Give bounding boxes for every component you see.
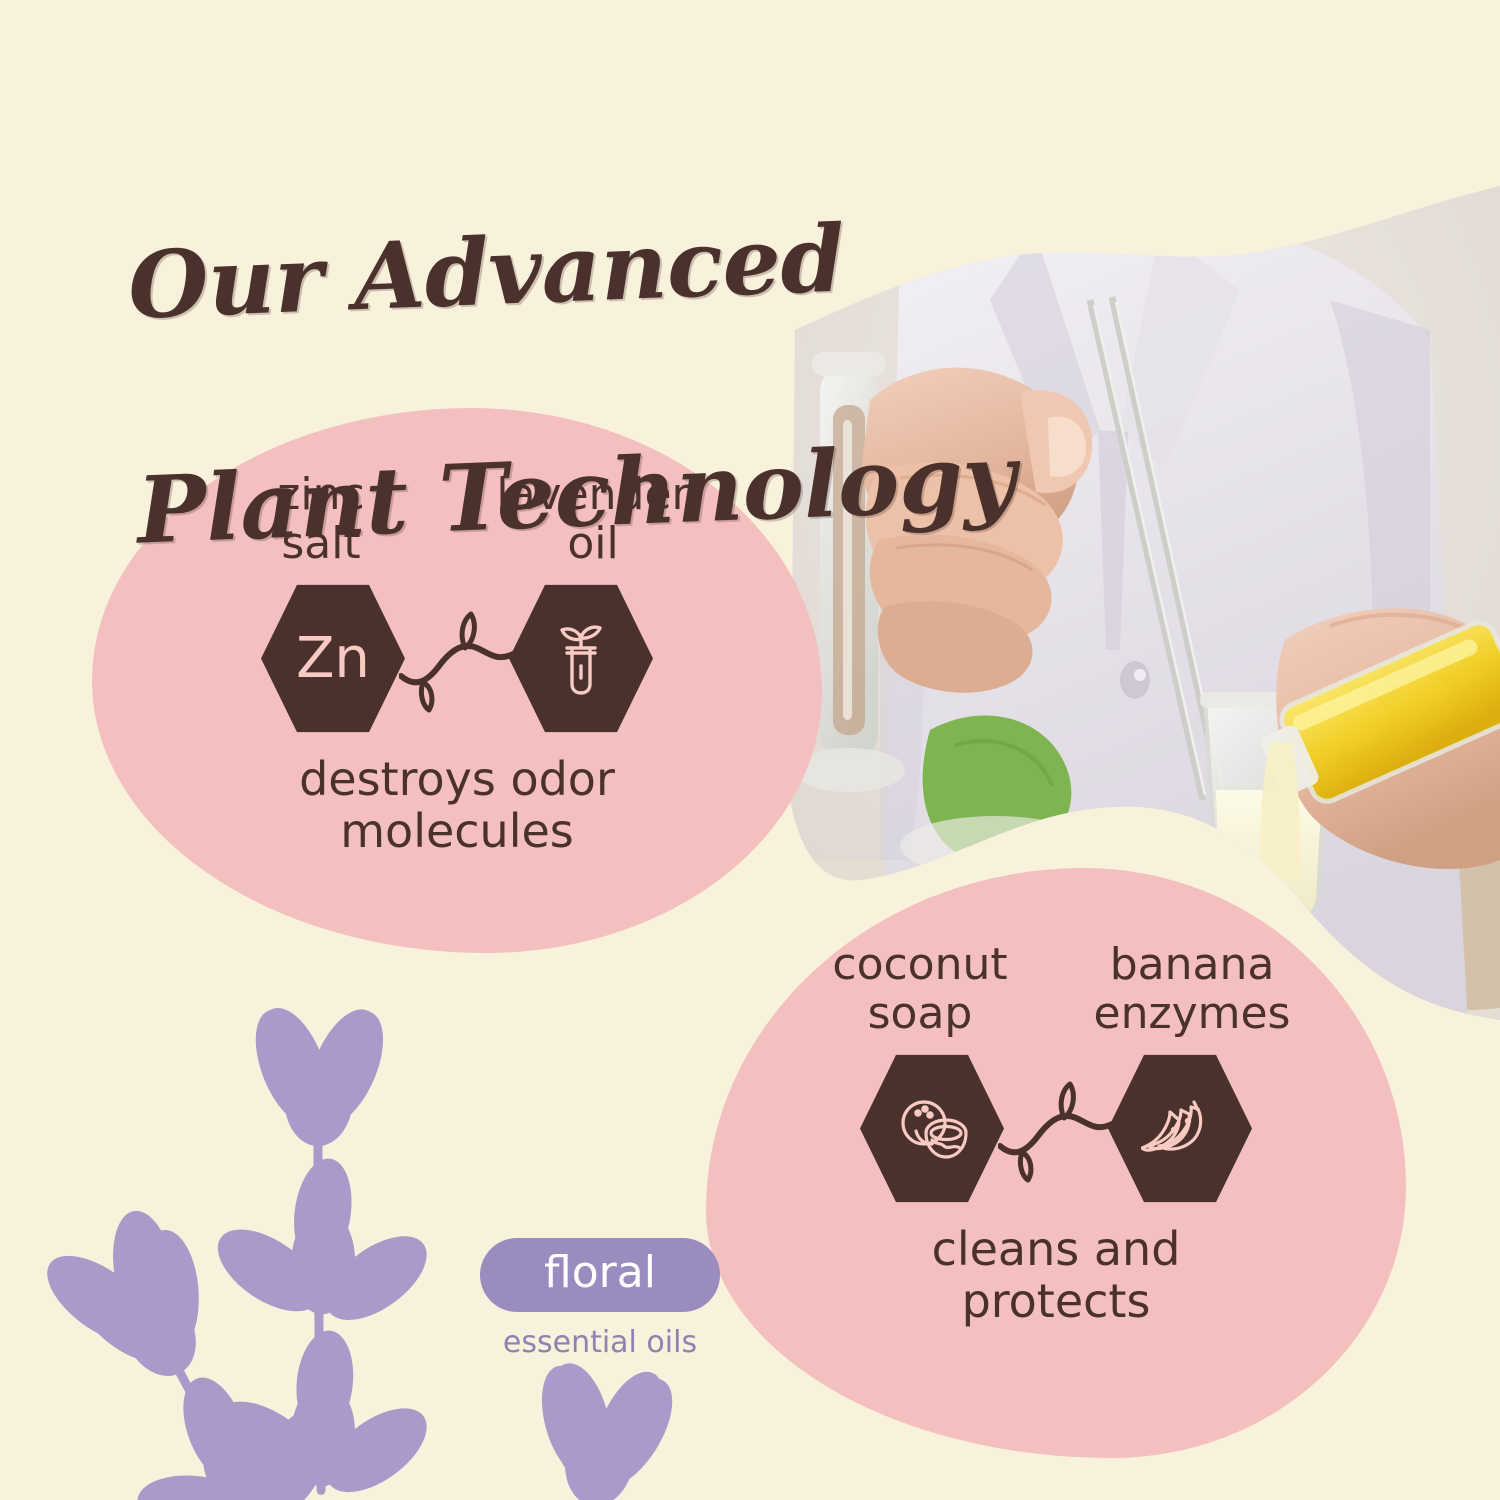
blob-caption-cleans-protects: cleans and protects	[706, 1223, 1406, 1328]
ingredient-label-banana-enzymes: banana enzymes	[1074, 940, 1310, 1039]
essential-oils-label: essential oils	[480, 1325, 720, 1360]
floral-badge: floral essential oils	[480, 1238, 720, 1360]
ingredient-hex-row	[706, 1049, 1406, 1209]
hexagon-banana	[1108, 1049, 1252, 1209]
title-line-2: Plant Technology	[135, 420, 1039, 567]
ingredient-label-coconut-soap: coconut soap	[802, 940, 1038, 1039]
blob-caption-destroys-odor: destroys odor molecules	[92, 753, 822, 858]
lavender-sprig-icon	[17, 1183, 458, 1500]
infographic-canvas: Our Advanced Plant Technology zinc salt …	[0, 0, 1500, 1500]
coconut-icon	[894, 1093, 970, 1165]
floral-pill-label: floral	[480, 1238, 720, 1312]
ingredient-blob-clean: coconut soap banana enzymes	[706, 868, 1406, 1458]
ingredient-pair-labels: coconut soap banana enzymes	[706, 940, 1406, 1039]
leafy-vine-connector-icon	[998, 1074, 1114, 1184]
title-line-1: Our Advanced	[126, 196, 1030, 343]
lavender-sprig-icon	[421, 1342, 749, 1500]
bananas-icon	[1141, 1096, 1219, 1162]
hexagon-coconut	[860, 1049, 1004, 1209]
lavender-sprig-icon	[195, 996, 456, 1500]
page-title: Our Advanced Plant Technology	[122, 83, 1043, 678]
